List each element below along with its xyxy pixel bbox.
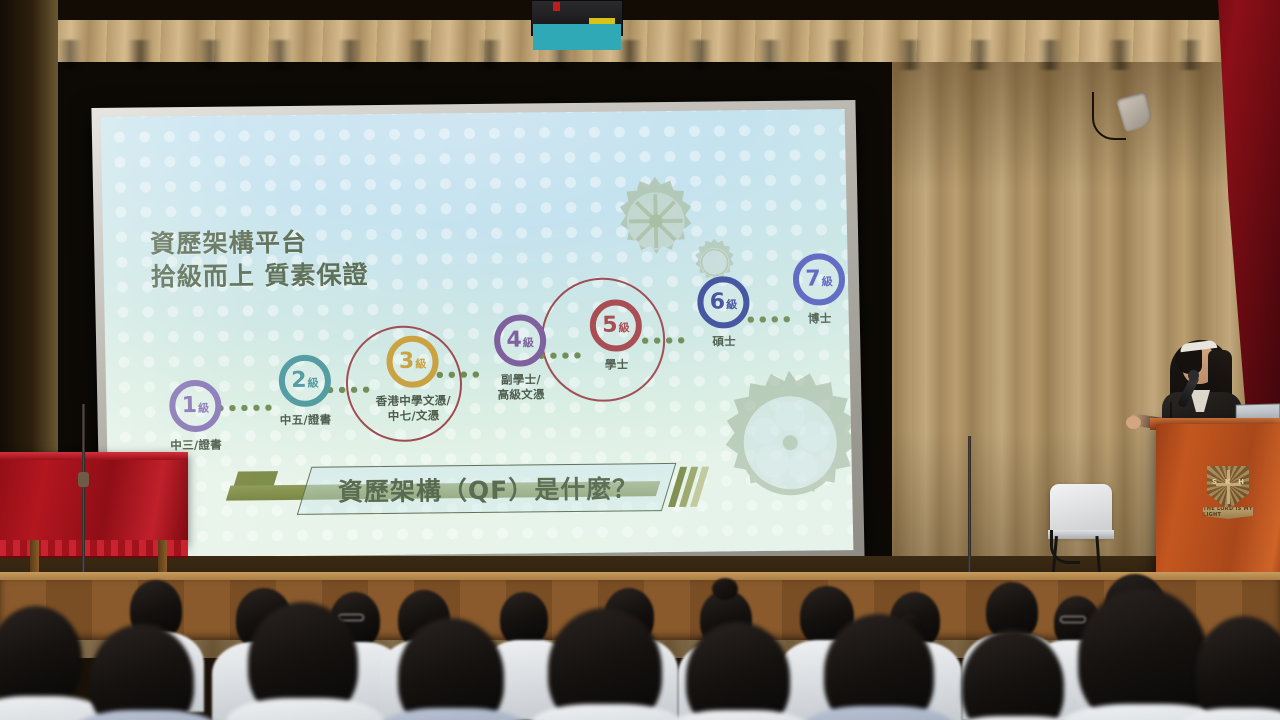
crest-letter-h: H [1238, 478, 1244, 486]
level-unit-3: 級 [415, 359, 426, 370]
audience-head-foreground [824, 614, 934, 720]
level-num-text-1: 1 [182, 395, 198, 417]
level-label-7: 博士 [773, 311, 854, 327]
level-unit-7: 級 [822, 276, 833, 287]
level-badge-1: 1級 [169, 380, 222, 433]
crest-letters: S K H [1207, 478, 1249, 486]
presenter-hand [1126, 416, 1141, 429]
level-badge-7: 7級 [792, 253, 845, 306]
level-number-2: 2級 [291, 370, 319, 392]
level-unit-1: 級 [198, 403, 209, 414]
level-node-4[interactable]: 4級 副學士/ 高級文憑 [473, 314, 569, 403]
ceiling-band [0, 0, 1280, 20]
level-node-6[interactable]: 6級 碩士 [676, 276, 771, 350]
level-label-5: 學士 [570, 357, 664, 373]
level-label-4: 副學士/ 高級文憑 [474, 372, 569, 403]
curtain-left [0, 0, 58, 470]
crest-letter-k: K [1225, 478, 1230, 486]
level-label-3: 香港中學文憑/ 中七/文憑 [362, 393, 465, 424]
level-unit-5: 級 [618, 322, 629, 333]
audience-head-foreground [1196, 616, 1280, 720]
audience-head-foreground [686, 622, 790, 720]
audience-hair-bun [712, 578, 738, 600]
level-number-5: 5級 [602, 314, 630, 336]
audience-head-foreground [1078, 588, 1208, 720]
audience [0, 520, 1280, 720]
level-node-1[interactable]: 1級 中三/證書 [148, 379, 243, 453]
level-number-4: 4級 [506, 329, 534, 351]
level-num-text-5: 5 [602, 315, 618, 337]
projection-screen: 資歷架構平台 拾級而上 質素保證 1級 [91, 100, 864, 568]
level-badge-5: 5級 [589, 299, 642, 352]
level-node-3[interactable]: 3級 香港中學文憑/ 中七/文憑 [361, 335, 465, 424]
audience-glasses-icon [1060, 616, 1086, 623]
level-node-5[interactable]: 5級 學士 [568, 299, 663, 373]
ceiling-unit-teal-panel [533, 24, 621, 50]
level-label-2: 中五/證書 [259, 412, 353, 428]
level-num-text-4: 4 [506, 330, 522, 352]
level-num-text-6: 6 [710, 291, 726, 313]
level-badge-2: 2級 [278, 355, 331, 408]
slide-title-line2: 拾級而上 質素保證 [150, 257, 481, 293]
level-number-6: 6級 [710, 291, 738, 313]
crest-cross-vertical [1227, 470, 1230, 504]
table-top-edge [0, 452, 188, 460]
level-label-6: 碩士 [677, 334, 771, 350]
level-unit-4: 級 [523, 337, 534, 348]
slide-title: 資歷架構平台 拾級而上 質素保證 [150, 225, 481, 293]
level-badge-4: 4級 [494, 314, 547, 367]
slide-title-line1: 資歷架構平台 [150, 225, 481, 261]
level-label-1: 中三/證書 [149, 437, 243, 453]
level-node-2[interactable]: 2級 中五/證書 [257, 354, 352, 428]
ceiling-unit-indicator [553, 2, 560, 11]
presentation-slide: 資歷架構平台 拾級而上 質素保證 1級 [101, 109, 854, 558]
level-num-text-2: 2 [291, 370, 307, 392]
valance-scallop [0, 40, 1280, 70]
level-unit-6: 級 [726, 299, 737, 310]
ceiling-audio-unit [531, 0, 623, 50]
level-badge-3: 3級 [386, 335, 439, 388]
banner-question-text: 資歷架構（QF）是什麼？ [308, 463, 669, 515]
microphone-head [1188, 370, 1199, 381]
mic-stand-adjuster [78, 472, 89, 487]
level-number-3: 3級 [399, 351, 427, 373]
level-node-7[interactable]: 7級 博士 [771, 253, 853, 327]
audience-head-foreground [0, 606, 82, 710]
level-number-1: 1級 [182, 395, 210, 417]
audience-head [500, 592, 548, 646]
level-badge-6: 6級 [697, 276, 750, 329]
audience-head-foreground [398, 618, 504, 720]
level-num-text-7: 7 [805, 268, 821, 290]
scene-root: 資歷架構平台 拾級而上 質素保證 1級 [0, 0, 1280, 720]
school-crest: S K H THE LORD IS MY LIGHT [1203, 466, 1253, 528]
level-unit-2: 級 [308, 378, 319, 389]
level-num-text-3: 3 [399, 351, 415, 373]
gear-bottom-right-icon [714, 367, 854, 519]
crest-letter-s: S [1212, 478, 1217, 486]
level-number-7: 7級 [805, 268, 833, 290]
screen-frame: 資歷架構平台 拾級而上 質素保證 1級 [91, 100, 864, 568]
